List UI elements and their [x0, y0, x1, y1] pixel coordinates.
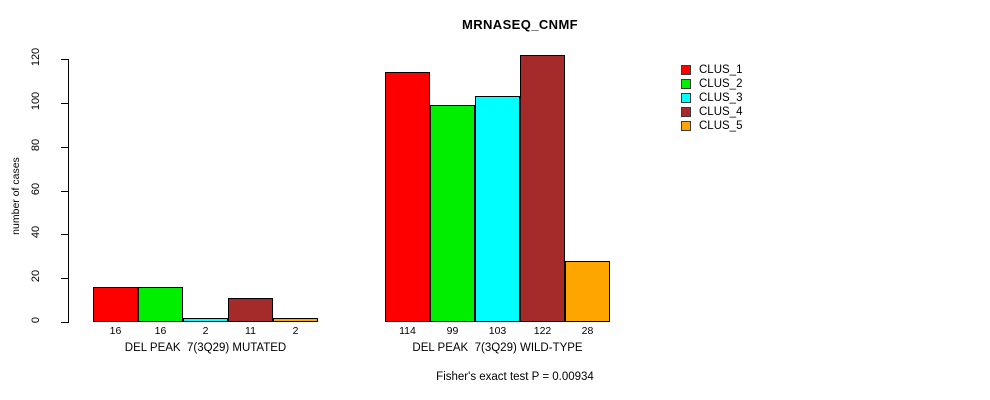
legend-color-swatch: [681, 107, 691, 117]
x-axis-group-label: DEL PEAK 7(3Q29) MUTATED: [53, 342, 358, 354]
bar-value-label: 114: [385, 325, 430, 337]
legend-item-label: CLUS_2: [699, 78, 742, 90]
chart-figure: MRNASEQ_CNMF number of cases 02040608010…: [0, 0, 990, 400]
legend-color-swatch: [681, 121, 691, 131]
legend-item: CLUS_5: [681, 119, 742, 133]
bar-value-label: 103: [475, 325, 520, 337]
bar: [430, 105, 475, 322]
legend-item-label: CLUS_3: [699, 92, 742, 104]
bar: [565, 261, 610, 322]
bar: [475, 96, 520, 322]
bar-value-label: 16: [93, 325, 138, 337]
plot-area: 16162112DEL PEAK 7(3Q29) MUTATED11499103…: [0, 0, 990, 400]
bar-value-label: 122: [520, 325, 565, 337]
x-axis-group-label: DEL PEAK 7(3Q29) WILD-TYPE: [345, 342, 650, 354]
legend-color-swatch: [681, 93, 691, 103]
bar-value-label: 2: [183, 325, 228, 337]
bar: [183, 318, 228, 322]
legend: CLUS_1CLUS_2CLUS_3CLUS_4CLUS_5: [681, 63, 742, 133]
bar: [273, 318, 318, 322]
legend-item-label: CLUS_1: [699, 64, 742, 76]
bar: [385, 72, 430, 322]
legend-item: CLUS_1: [681, 63, 742, 77]
legend-item: CLUS_4: [681, 105, 742, 119]
bar-value-label: 11: [228, 325, 273, 337]
legend-color-swatch: [681, 65, 691, 75]
bar-value-label: 99: [430, 325, 475, 337]
bar: [228, 298, 273, 322]
legend-item: CLUS_2: [681, 77, 742, 91]
legend-item-label: CLUS_4: [699, 106, 742, 118]
bar: [138, 287, 183, 322]
legend-item: CLUS_3: [681, 91, 742, 105]
statistical-test-annotation: Fisher's exact test P = 0.00934: [20, 371, 990, 383]
bar-value-label: 28: [565, 325, 610, 337]
legend-item-label: CLUS_5: [699, 120, 742, 132]
bar: [520, 55, 565, 322]
bar: [93, 287, 138, 322]
legend-color-swatch: [681, 79, 691, 89]
bar-value-label: 16: [138, 325, 183, 337]
bar-value-label: 2: [273, 325, 318, 337]
